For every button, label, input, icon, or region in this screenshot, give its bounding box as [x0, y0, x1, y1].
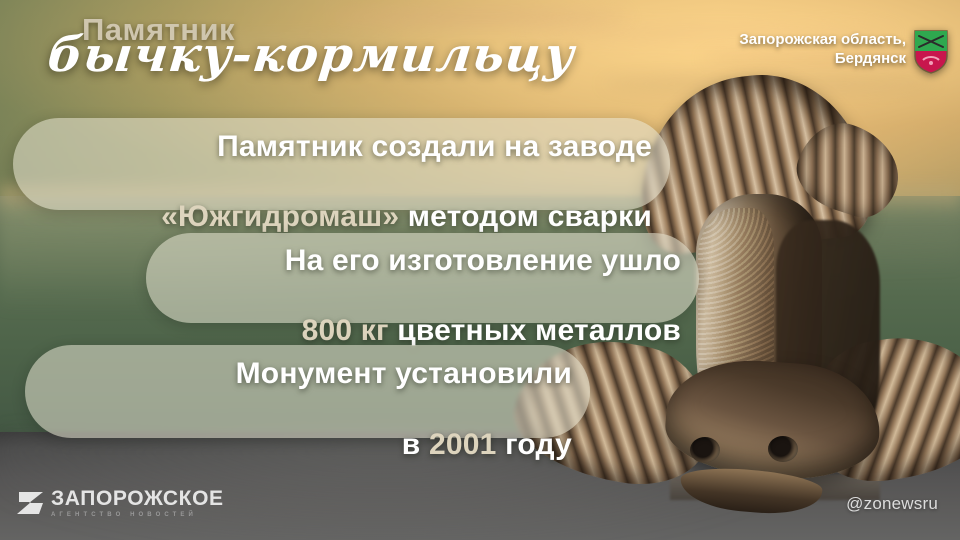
- region-text: Запорожская область, Бердянск: [739, 30, 906, 68]
- fact-2-line-1: На его изготовление ушло: [285, 244, 681, 277]
- fact-bubble-1: Памятник создали на заводе «Южгидромаш» …: [13, 118, 670, 210]
- region-badge: Запорожская область, Бердянск: [739, 30, 948, 74]
- fact-bubble-3-text: Монумент установили в 2001 году: [236, 321, 572, 463]
- agency-logo[interactable]: ЗАПОРОЖСКОЕ агентство новостей: [16, 488, 224, 518]
- fact-3-line-2-pre: в: [402, 428, 429, 461]
- fish-eye-left: [690, 437, 720, 463]
- z-mark-icon: [16, 489, 46, 517]
- fact-bubble-2: На его изготовление ушло 800 кг цветных …: [146, 233, 699, 323]
- fish-eye-right: [768, 436, 798, 462]
- infographic-card: Памятник бычку-кормильцу Запорожская обл…: [0, 0, 960, 540]
- social-handle[interactable]: @zonewsru: [846, 494, 938, 514]
- fact-3-line-2-rest: году: [497, 428, 572, 461]
- headline-line-2: бычку-кормильцу: [46, 33, 577, 77]
- fact-3-line-1: Монумент установили: [236, 357, 572, 390]
- agency-subtitle: агентство новостей: [51, 512, 224, 518]
- region-line-1: Запорожская область,: [739, 30, 906, 49]
- region-line-2: Бердянск: [739, 49, 906, 68]
- agency-name: ЗАПОРОЖСКОЕ: [51, 488, 224, 509]
- fact-1-line-1: Памятник создали на заводе: [217, 130, 652, 163]
- coat-of-arms-icon: [914, 30, 948, 74]
- headline: Памятник бычку-кормильцу: [48, 14, 575, 77]
- fact-bubble-3: Монумент установили в 2001 году: [25, 345, 590, 438]
- agency-logo-words: ЗАПОРОЖСКОЕ агентство новостей: [51, 488, 224, 518]
- fact-3-highlight: 2001: [429, 428, 497, 461]
